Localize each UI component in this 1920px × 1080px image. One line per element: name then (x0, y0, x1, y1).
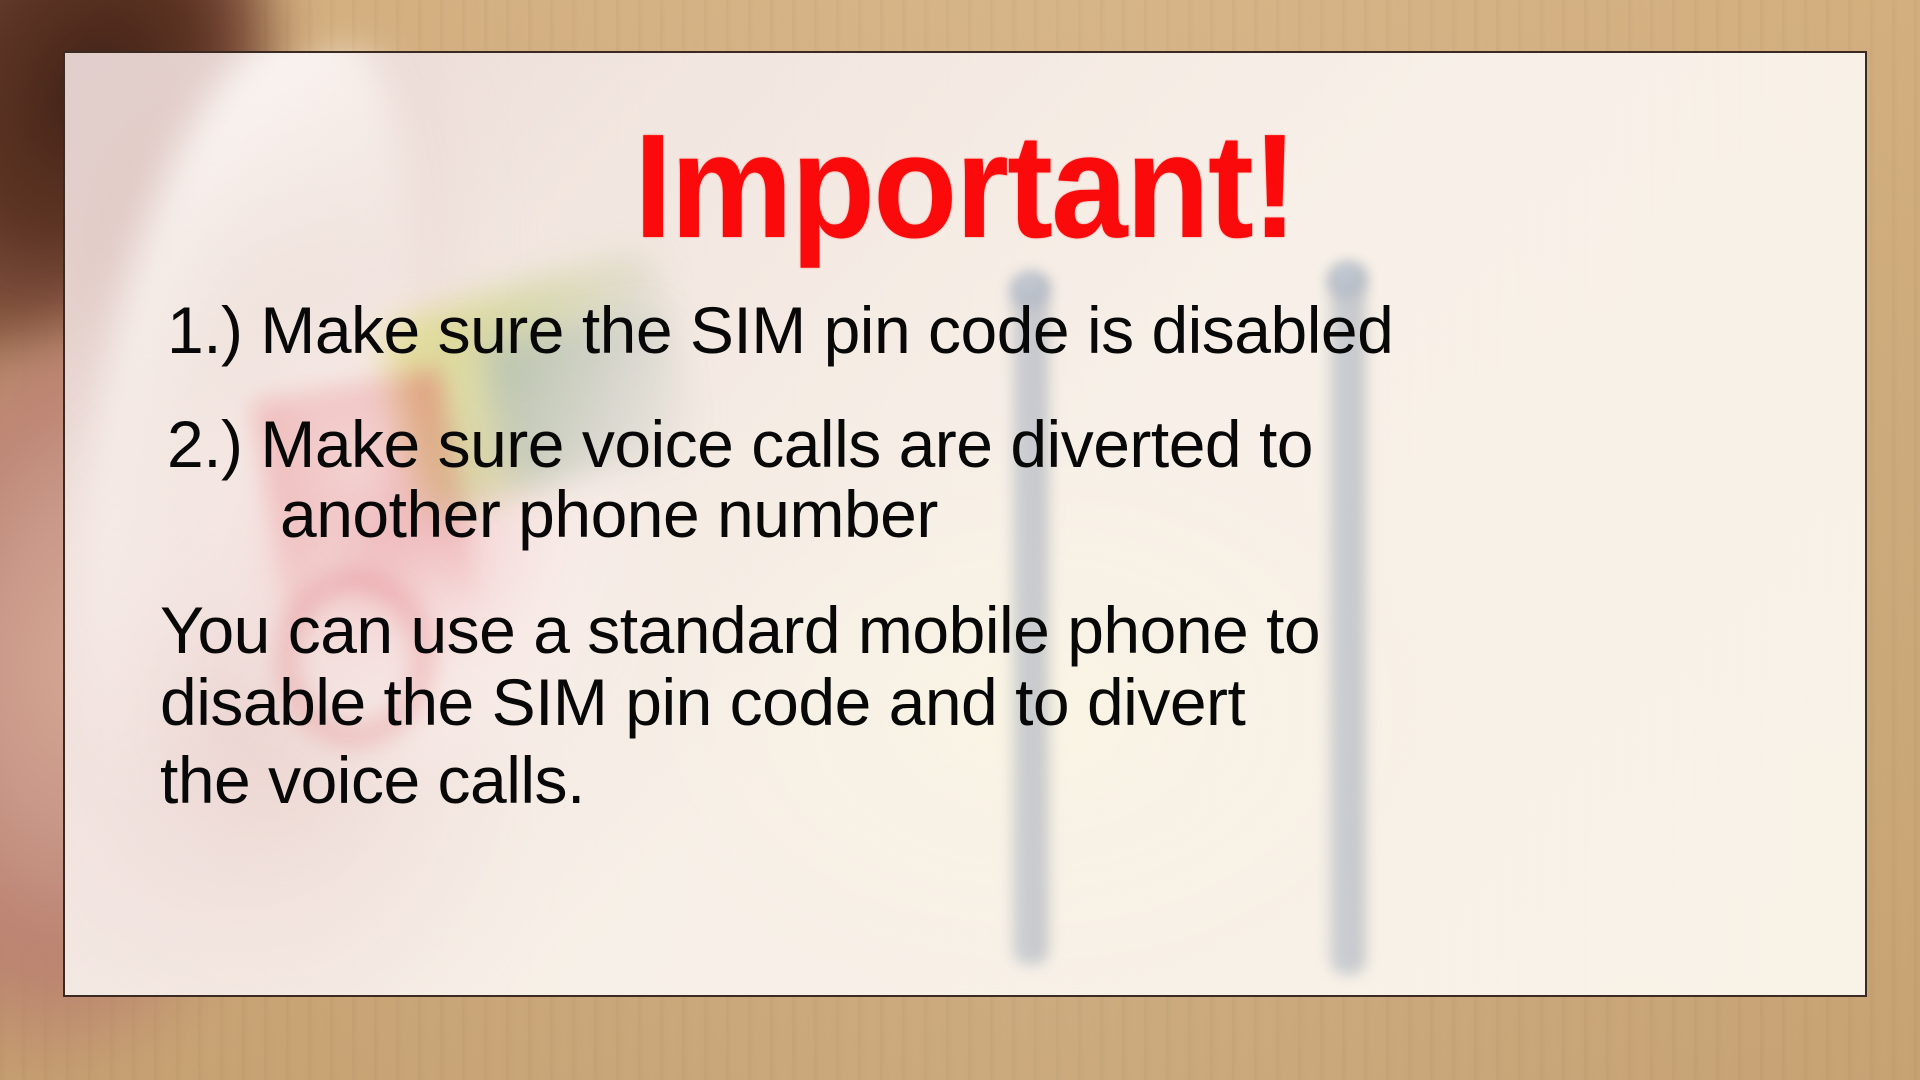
list-item-2-continuation: another phone number (280, 481, 938, 547)
paragraph-line-3: the voice calls. (160, 747, 585, 813)
content-card: Important! 1.) Make sure the SIM pin cod… (63, 51, 1867, 997)
list-item-1: 1.) Make sure the SIM pin code is disabl… (167, 297, 1393, 363)
slide-content: Important! 1.) Make sure the SIM pin cod… (65, 53, 1865, 995)
paragraph-line-1: You can use a standard mobile phone to (160, 597, 1320, 663)
slide-stage: Important! 1.) Make sure the SIM pin cod… (0, 0, 1920, 1080)
paragraph-line-2: disable the SIM pin code and to divert (160, 669, 1245, 735)
list-item-2: 2.) Make sure voice calls are diverted t… (167, 411, 1313, 477)
slide-title: Important! (128, 113, 1802, 261)
